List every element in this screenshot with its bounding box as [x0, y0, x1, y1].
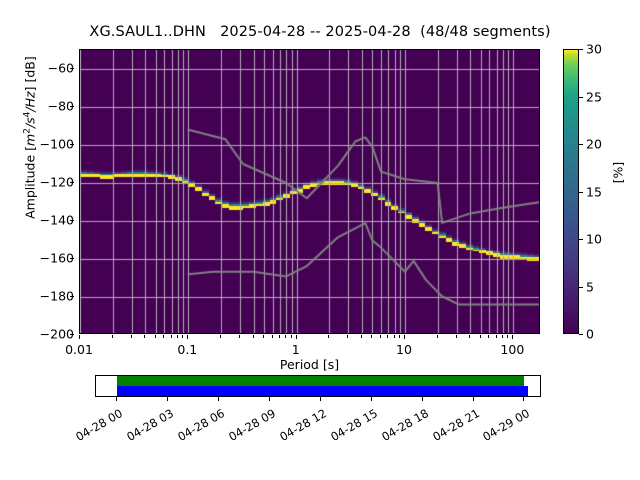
- colorbar-tick-mark: [579, 144, 583, 145]
- y-tick-mark: [70, 106, 74, 107]
- x-tick-mark-minor: [488, 335, 489, 338]
- ppsd-axes[interactable]: [79, 49, 540, 334]
- timeline-tick-label: 04-28 00: [64, 406, 125, 449]
- y-tick-label: −200: [40, 327, 74, 342]
- timeline-tick-mark: [269, 397, 270, 401]
- y-tick-mark: [70, 220, 74, 221]
- colorbar-tick-label: 30: [586, 42, 602, 57]
- colorbar-tick-label: 25: [586, 89, 602, 104]
- y-tick-mark: [70, 182, 74, 183]
- colorbar-tick-mark: [579, 97, 583, 98]
- y-tick-mark: [70, 68, 74, 69]
- y-tick-label: −120: [40, 175, 74, 190]
- colorbar: [563, 49, 579, 334]
- x-tick-mark-minor: [171, 335, 172, 338]
- x-tick-label: 100: [500, 342, 524, 357]
- y-tick-mark: [70, 144, 74, 145]
- y-tick-label: −180: [40, 289, 74, 304]
- y-axis-ticks: −60−80−100−120−140−160−180−200: [0, 49, 74, 334]
- x-tick-mark-minor: [394, 335, 395, 338]
- colorbar-tick-label: 15: [586, 184, 602, 199]
- y-tick-label: −160: [40, 251, 74, 266]
- x-tick-mark-major: [404, 335, 405, 339]
- x-tick-mark-minor: [347, 335, 348, 338]
- timeline-tick-label: 04-28 18: [370, 406, 431, 449]
- timeline-tick-label: 04-28 15: [319, 406, 380, 449]
- timeline-tick-mark: [523, 397, 524, 401]
- colorbar-ticks: 051015202530: [579, 49, 639, 334]
- timeline-tick-mark: [422, 397, 423, 401]
- x-tick-mark-minor: [112, 335, 113, 338]
- colorbar-tick-label: 5: [586, 279, 594, 294]
- x-tick-mark-minor: [480, 335, 481, 338]
- y-tick-mark: [70, 296, 74, 297]
- x-tick-mark-minor: [163, 335, 164, 338]
- y-tick-mark: [70, 334, 74, 335]
- x-tick-mark-minor: [177, 335, 178, 338]
- colorbar-tick-mark: [579, 192, 583, 193]
- x-tick-mark-minor: [239, 335, 240, 338]
- x-tick-mark-major: [79, 335, 80, 339]
- timeline-axes[interactable]: [95, 375, 541, 397]
- timeline-tick-mark: [320, 397, 321, 401]
- y-tick-label: −140: [40, 213, 74, 228]
- x-tick-mark-minor: [220, 335, 221, 338]
- x-tick-mark-minor: [496, 335, 497, 338]
- x-tick-label: 1: [292, 342, 300, 357]
- x-tick-label: 0.01: [65, 342, 93, 357]
- x-tick-mark-minor: [387, 335, 388, 338]
- x-tick-mark-minor: [380, 335, 381, 338]
- x-tick-mark-minor: [291, 335, 292, 338]
- timeline-tick-label: 04-28 12: [268, 406, 329, 449]
- colorbar-tick-mark: [579, 49, 583, 50]
- timeline-tick-label: 04-29 00: [472, 406, 533, 449]
- x-tick-mark-minor: [279, 335, 280, 338]
- x-tick-mark-minor: [399, 335, 400, 338]
- x-tick-mark-major: [187, 335, 188, 339]
- timeline-tick-mark: [167, 397, 168, 401]
- timeline-bar-psd-segments: [117, 386, 528, 396]
- x-tick-mark-minor: [131, 335, 132, 338]
- x-tick-mark-minor: [272, 335, 273, 338]
- y-tick-mark: [70, 258, 74, 259]
- x-tick-mark-minor: [437, 335, 438, 338]
- figure-title: XG.SAUL1..DHN 2025-04-28 -- 2025-04-28 (…: [0, 24, 640, 40]
- timeline-tick-mark: [218, 397, 219, 401]
- x-tick-mark-minor: [456, 335, 457, 338]
- x-tick-label: 0.1: [177, 342, 197, 357]
- noise-model-curves: [80, 50, 540, 334]
- timeline-tick-mark: [473, 397, 474, 401]
- x-tick-mark-minor: [285, 335, 286, 338]
- colorbar-label: [%]: [611, 143, 626, 203]
- x-tick-mark-minor: [371, 335, 372, 338]
- ppsd-figure: XG.SAUL1..DHN 2025-04-28 -- 2025-04-28 (…: [0, 0, 640, 480]
- x-tick-mark-minor: [182, 335, 183, 338]
- x-tick-mark-major: [296, 335, 297, 339]
- x-tick-mark-minor: [507, 335, 508, 338]
- timeline-ticks: 04-28 0004-28 0304-28 0604-28 0904-28 12…: [95, 397, 541, 477]
- x-tick-mark-minor: [144, 335, 145, 338]
- x-tick-mark-minor: [155, 335, 156, 338]
- x-tick-mark-minor: [502, 335, 503, 338]
- x-tick-mark-major: [512, 335, 513, 339]
- timeline-tick-mark: [371, 397, 372, 401]
- x-tick-mark-minor: [328, 335, 329, 338]
- x-tick-mark-minor: [469, 335, 470, 338]
- colorbar-tick-label: 10: [586, 232, 602, 247]
- colorbar-tick-mark: [579, 334, 583, 335]
- colorbar-tick-mark: [579, 239, 583, 240]
- timeline-tick-mark: [116, 397, 117, 401]
- colorbar-tick-label: 20: [586, 137, 602, 152]
- timeline-bar-data-available: [117, 376, 525, 386]
- colorbar-tick-mark: [579, 287, 583, 288]
- x-tick-label: 10: [396, 342, 412, 357]
- timeline-tick-label: 04-28 09: [217, 406, 278, 449]
- timeline-tick-label: 04-28 06: [166, 406, 227, 449]
- y-tick-label: −100: [40, 137, 74, 152]
- colorbar-tick-label: 0: [586, 327, 594, 342]
- x-tick-mark-minor: [263, 335, 264, 338]
- timeline-tick-label: 04-28 03: [115, 406, 176, 449]
- x-tick-mark-minor: [361, 335, 362, 338]
- x-axis-label: Period [s]: [79, 357, 540, 372]
- timeline-tick-label: 04-28 21: [421, 406, 482, 449]
- x-tick-mark-minor: [253, 335, 254, 338]
